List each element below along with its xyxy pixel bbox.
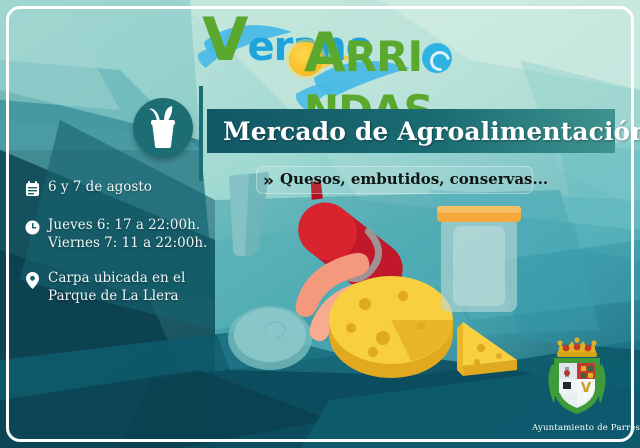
info-row-date: 6 y 7 de agosto	[22, 178, 222, 199]
map-pin-icon	[22, 270, 42, 290]
title-banner: Mercado de Agroalimentación	[207, 109, 615, 153]
crest-label: Ayuntamiento de Parres	[532, 423, 622, 433]
preserve-jar-icon	[437, 206, 521, 312]
cheese-wedge-icon	[457, 322, 517, 376]
title-accent-bar	[199, 86, 203, 181]
shopping-basket-icon	[133, 98, 193, 158]
municipality-crest: Ayuntamiento de Parres	[532, 336, 622, 434]
logo-letter-a: A	[304, 21, 345, 84]
verano-arriondas-logo: Verano ARRINDAS	[196, 2, 566, 112]
info-hours-line2: Viernes 7: 11 a 22:00h.	[48, 234, 207, 252]
calendar-icon	[22, 179, 42, 199]
chevron-double-right-icon: »	[263, 171, 274, 191]
clock-icon	[22, 217, 42, 237]
plate-icon	[228, 306, 312, 370]
coat-of-arms-icon	[532, 336, 622, 416]
logo-text-rri: RRI	[345, 32, 422, 81]
food-illustration-group	[225, 170, 555, 400]
subtitle-text: Quesos, embutidos, conservas...	[262, 170, 548, 188]
info-hours-line1: Jueves 6: 17 a 22:00h.	[48, 217, 200, 233]
info-row-hours: Jueves 6: 17 a 22:00h. Viernes 7: 11 a 2…	[22, 216, 222, 252]
info-hours-text: Jueves 6: 17 a 22:00h. Viernes 7: 11 a 2…	[48, 216, 207, 252]
info-location-line2: Parque de La Llera	[48, 287, 185, 305]
info-location-line1: Carpa ubicada en el	[48, 270, 185, 286]
cheese-wheel-icon	[329, 276, 453, 378]
page-title: Mercado de Agroalimentación	[207, 117, 640, 146]
info-location-text: Carpa ubicada en el Parque de La Llera	[48, 269, 185, 305]
event-info-list: 6 y 7 de agosto Jueves 6: 17 a 22:00h. V…	[22, 178, 222, 322]
info-row-location: Carpa ubicada en el Parque de La Llera	[22, 269, 222, 305]
spiral-o-icon	[422, 43, 452, 73]
poster-canvas: Verano ARRINDAS Mercado de Agroalimentac…	[0, 0, 640, 448]
info-date-text: 6 y 7 de agosto	[48, 178, 152, 196]
logo-letter-v: V	[202, 5, 247, 75]
